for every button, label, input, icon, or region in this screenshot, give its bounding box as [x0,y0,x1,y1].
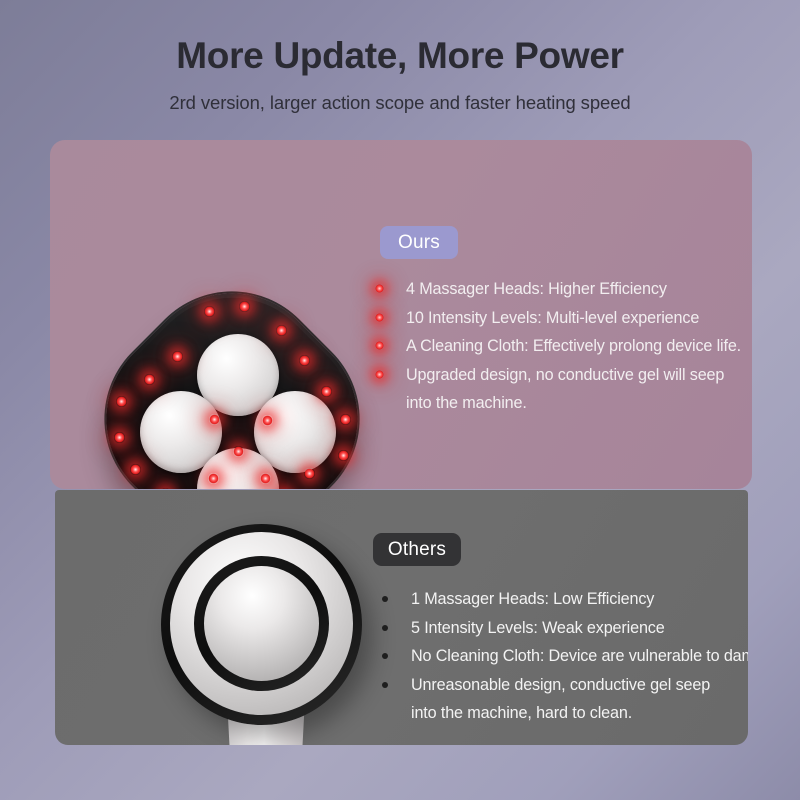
list-item: Unreasonable design, conductive gel seep… [377,671,748,728]
dot-bullet-icon [382,596,388,602]
list-item: A Cleaning Cloth: Effectively prolong de… [372,332,752,361]
dot-bullet-icon [382,625,388,631]
led-lamp-icon [116,396,127,407]
list-item-text-continued: into the machine. [406,389,752,418]
led-lamp-icon [299,355,310,366]
list-item-text: 1 Massager Heads: Low Efficiency [411,590,654,608]
ours-badge: Ours [380,226,458,259]
ours-feature-list: 4 Massager Heads: Higher Efficiency 10 I… [372,275,752,418]
device-ring-core [204,566,319,681]
ours-badge-label: Ours [398,232,440,254]
others-badge-label: Others [388,539,446,561]
led-lamp-icon [338,450,349,461]
led-lamp-icon [262,415,273,426]
led-lamp-icon [172,351,183,362]
led-lamp-icon [208,473,219,484]
dot-bullet-icon [382,682,388,688]
list-item-text: A Cleaning Cloth: Effectively prolong de… [406,337,741,355]
led-bullet-icon [375,313,384,322]
four-head-massager-device-icon [108,165,368,489]
led-lamp-icon [233,446,244,457]
others-badge: Others [373,533,461,566]
infographic-page: More Update, More Power 2rd version, lar… [0,0,800,800]
page-subtitle: 2rd version, larger action scope and fas… [0,92,800,114]
list-item: 5 Intensity Levels: Weak experience [377,614,748,643]
dot-bullet-icon [382,653,388,659]
list-item: 10 Intensity Levels: Multi-level experie… [372,304,752,333]
led-lamp-icon [204,306,215,317]
ours-comparison-card: Ours 4 Massager Heads: Higher Efficiency… [50,140,752,489]
list-item: 4 Massager Heads: Higher Efficiency [372,275,752,304]
list-item-text-continued: into the machine, hard to clean. [411,699,748,728]
led-lamp-icon [239,301,250,312]
list-item-text: No Cleaning Cloth: Device are vulnerable… [411,647,748,665]
others-comparison-card: Others 1 Massager Heads: Low Efficiency … [55,490,748,745]
led-lamp-icon [114,432,125,443]
list-item: 1 Massager Heads: Low Efficiency [377,585,748,614]
led-lamp-icon [144,374,155,385]
list-item-text: 4 Massager Heads: Higher Efficiency [406,280,667,298]
led-bullet-icon [375,341,384,350]
led-lamp-icon [304,468,315,479]
led-lamp-icon [321,386,332,397]
page-title: More Update, More Power [0,34,800,78]
led-lamp-icon [130,464,141,475]
led-bullet-icon [375,370,384,379]
header: More Update, More Power 2rd version, lar… [0,34,800,114]
led-lamp-icon [340,414,351,425]
list-item-text: Unreasonable design, conductive gel seep [411,676,710,694]
single-ring-massager-device-icon [150,520,380,745]
led-lamp-icon [276,325,287,336]
led-bullet-icon [375,284,384,293]
led-lamp-icon [260,473,271,484]
list-item: Upgraded design, no conductive gel will … [372,361,752,418]
list-item-text: Upgraded design, no conductive gel will … [406,366,724,384]
others-feature-list: 1 Massager Heads: Low Efficiency 5 Inten… [377,585,748,728]
list-item: No Cleaning Cloth: Device are vulnerable… [377,642,748,671]
led-lamp-icon [209,414,220,425]
list-item-text: 10 Intensity Levels: Multi-level experie… [406,309,699,327]
list-item-text: 5 Intensity Levels: Weak experience [411,619,665,637]
